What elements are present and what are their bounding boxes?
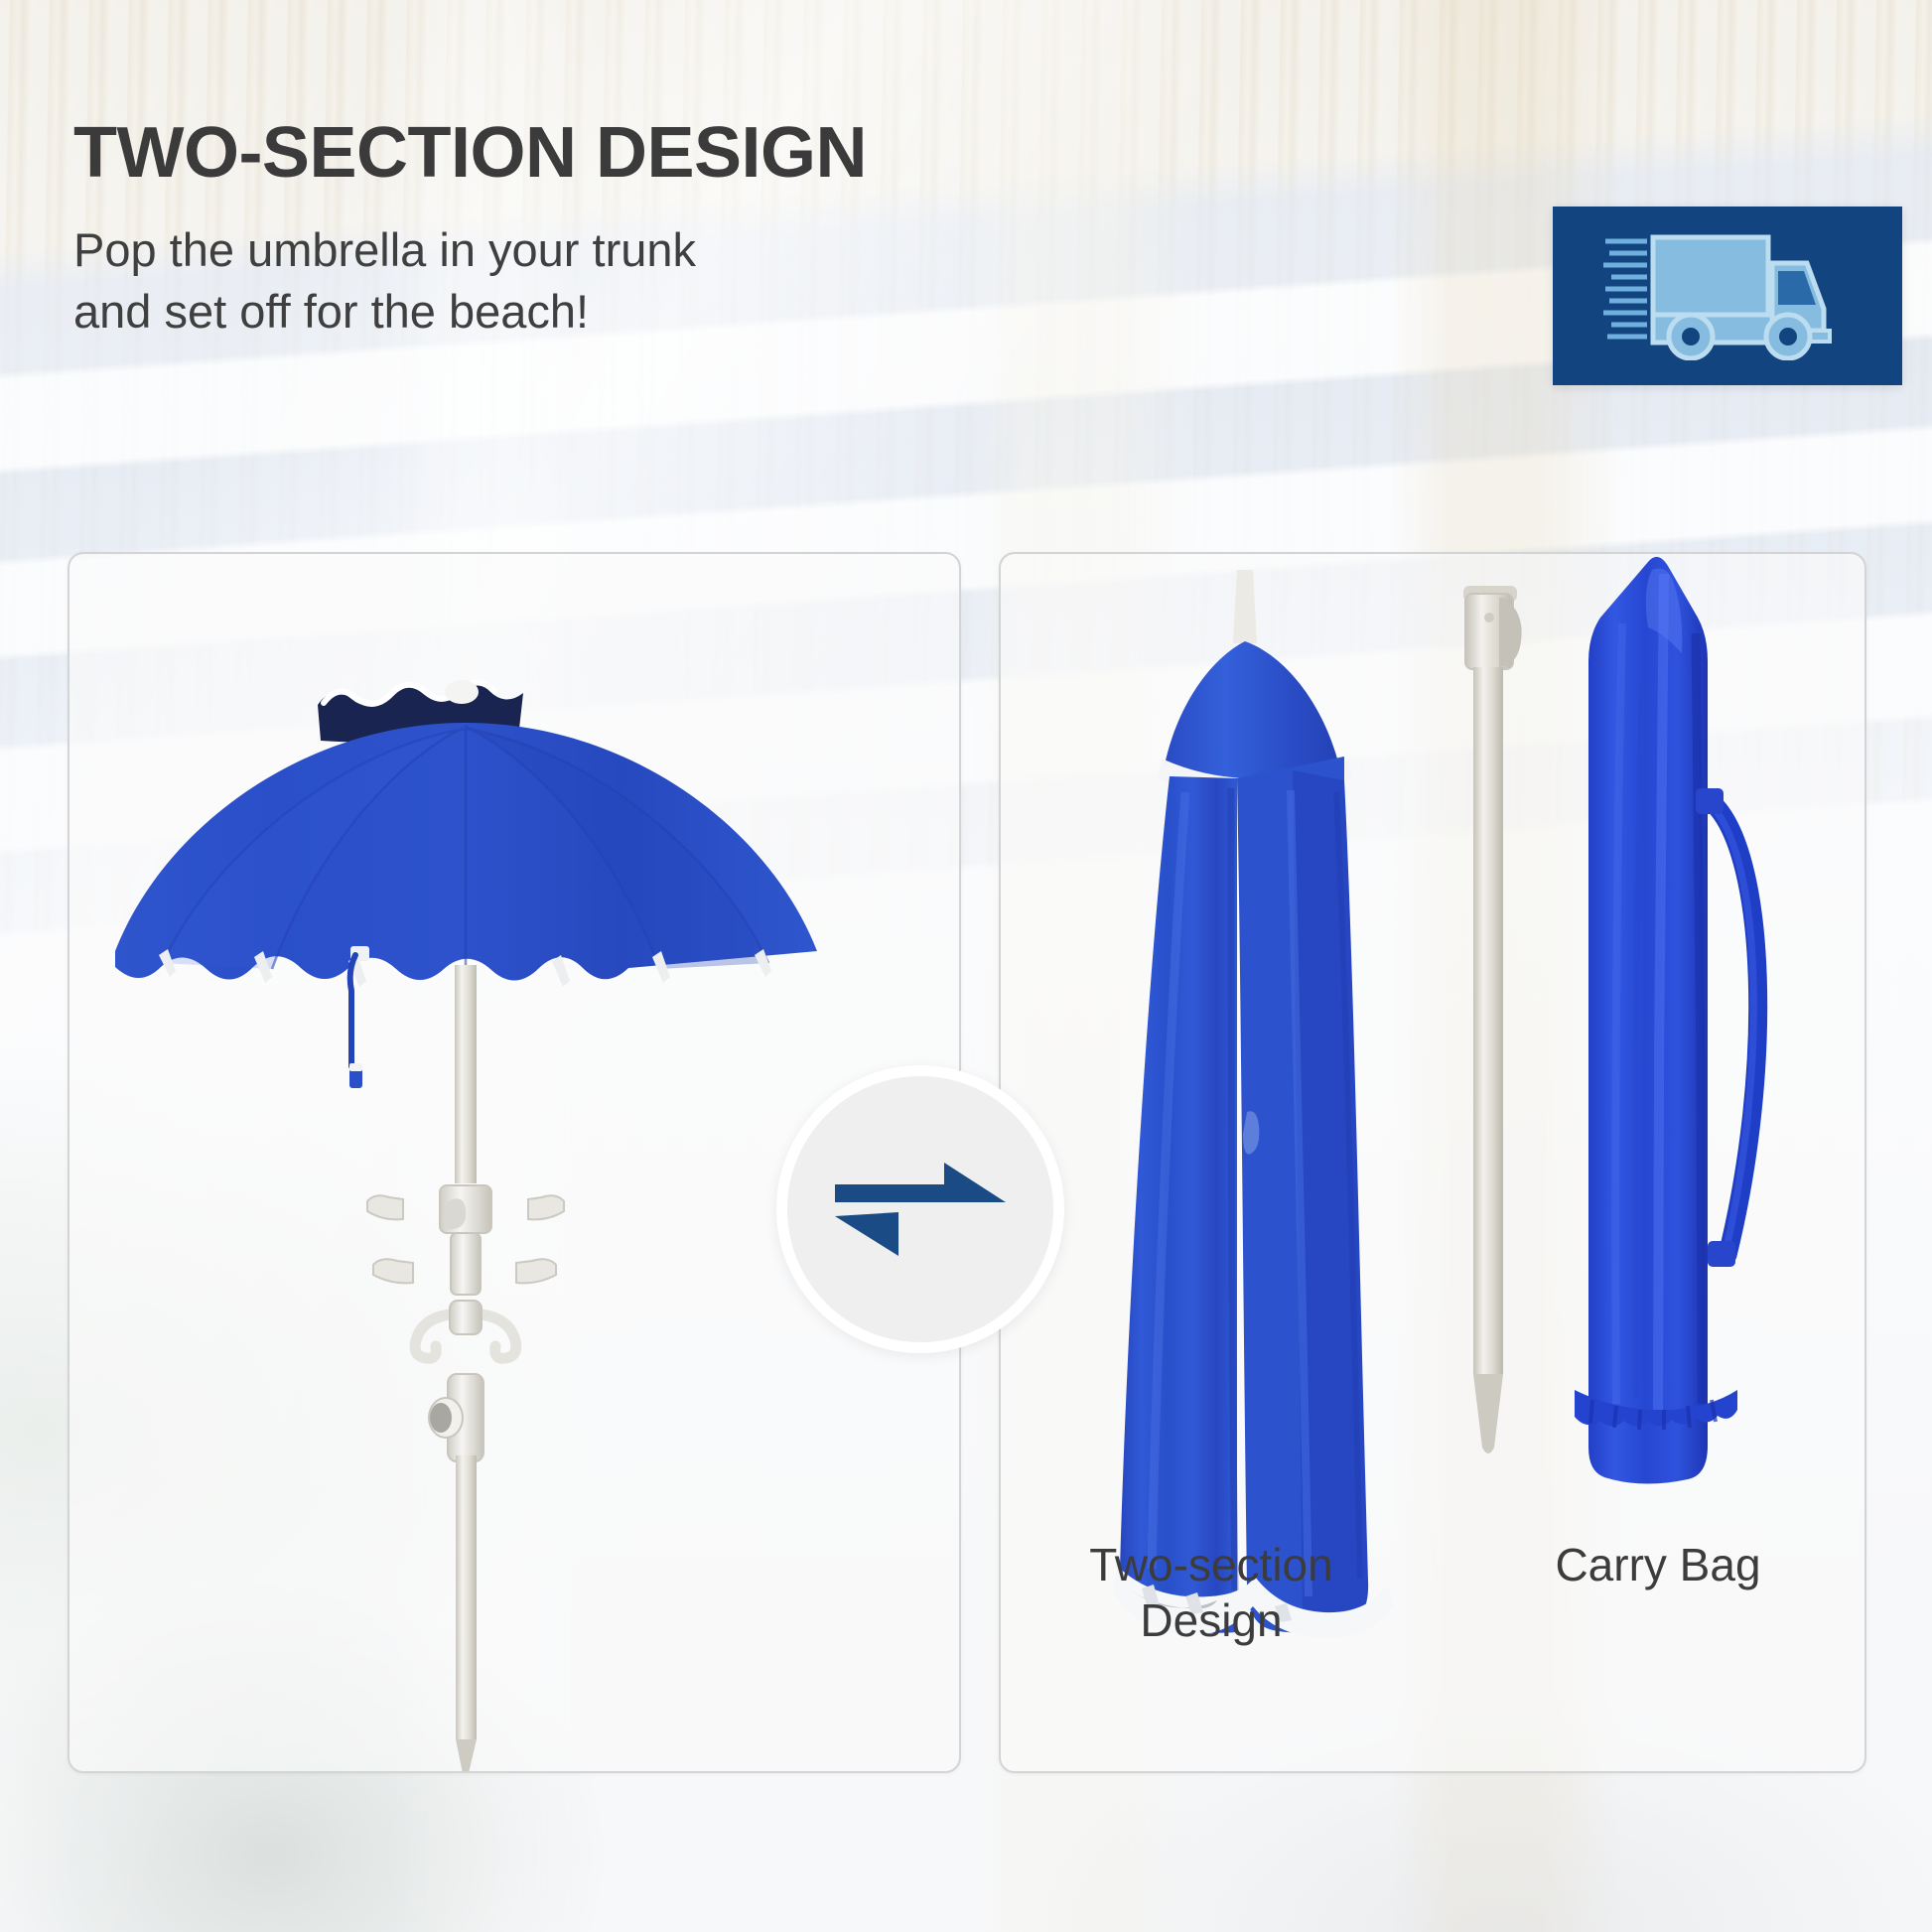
folded-umbrella-pole-tip	[1233, 570, 1257, 643]
stake-point	[1473, 1374, 1503, 1453]
lower-pole	[456, 1455, 477, 1739]
folded-umbrella	[1112, 570, 1394, 1638]
page-subtitle: Pop the umbrella in your trunk and set o…	[73, 219, 1205, 341]
accessory-hub	[367, 1185, 564, 1461]
carry-bag-strap-anchor-bottom	[1708, 1241, 1735, 1267]
folded-canopy-top-cone	[1166, 641, 1338, 778]
arrow-left-head-icon	[835, 1212, 898, 1256]
cup-holder-arm-left	[367, 1195, 403, 1219]
pole-connector-pin	[1484, 613, 1494, 622]
carry-bag-strap-anchor-top	[1696, 788, 1724, 814]
ground-stake-tip	[456, 1739, 477, 1771]
caption-two-section-design: Two-section Design	[1023, 1537, 1400, 1648]
header-block: TWO-SECTION DESIGN Pop the umbrella in y…	[73, 117, 1205, 342]
carry-bag-body	[1588, 557, 1708, 1484]
cup-holder-arm-right	[528, 1195, 564, 1219]
two-way-arrows-icon	[833, 1145, 1008, 1274]
hook-hub	[450, 1301, 482, 1334]
pole-connector-lever	[1499, 598, 1522, 667]
canopy-finial	[445, 680, 479, 704]
lower-pole-ground-stake	[1463, 586, 1522, 1453]
caption-carry-bag: Carry Bag	[1459, 1537, 1857, 1592]
delivery-truck-icon	[1603, 231, 1852, 360]
tray-arm-left	[373, 1259, 413, 1283]
caption-two-section-line2: Design	[1023, 1592, 1400, 1648]
shipping-badge	[1553, 207, 1902, 385]
swap-badge	[776, 1065, 1064, 1353]
arrow-right-icon	[835, 1163, 1006, 1202]
pole-shaft	[1473, 667, 1503, 1374]
page-title: TWO-SECTION DESIGN	[73, 117, 1205, 190]
hanging-hook-right	[482, 1314, 516, 1358]
carry-bag	[1575, 557, 1758, 1484]
caption-carry-bag-line1: Carry Bag	[1459, 1537, 1857, 1592]
caption-two-section-line1: Two-section	[1023, 1537, 1400, 1592]
tilt-knob-face	[430, 1403, 452, 1433]
tray-arm-right	[516, 1259, 556, 1283]
upper-pole	[455, 965, 477, 1183]
hub-collar-lower	[451, 1233, 481, 1295]
page-subtitle-line2: and set off for the beach!	[73, 281, 1205, 342]
hanging-hook-left	[415, 1314, 450, 1358]
page-subtitle-line1: Pop the umbrella in your trunk	[73, 219, 1205, 280]
